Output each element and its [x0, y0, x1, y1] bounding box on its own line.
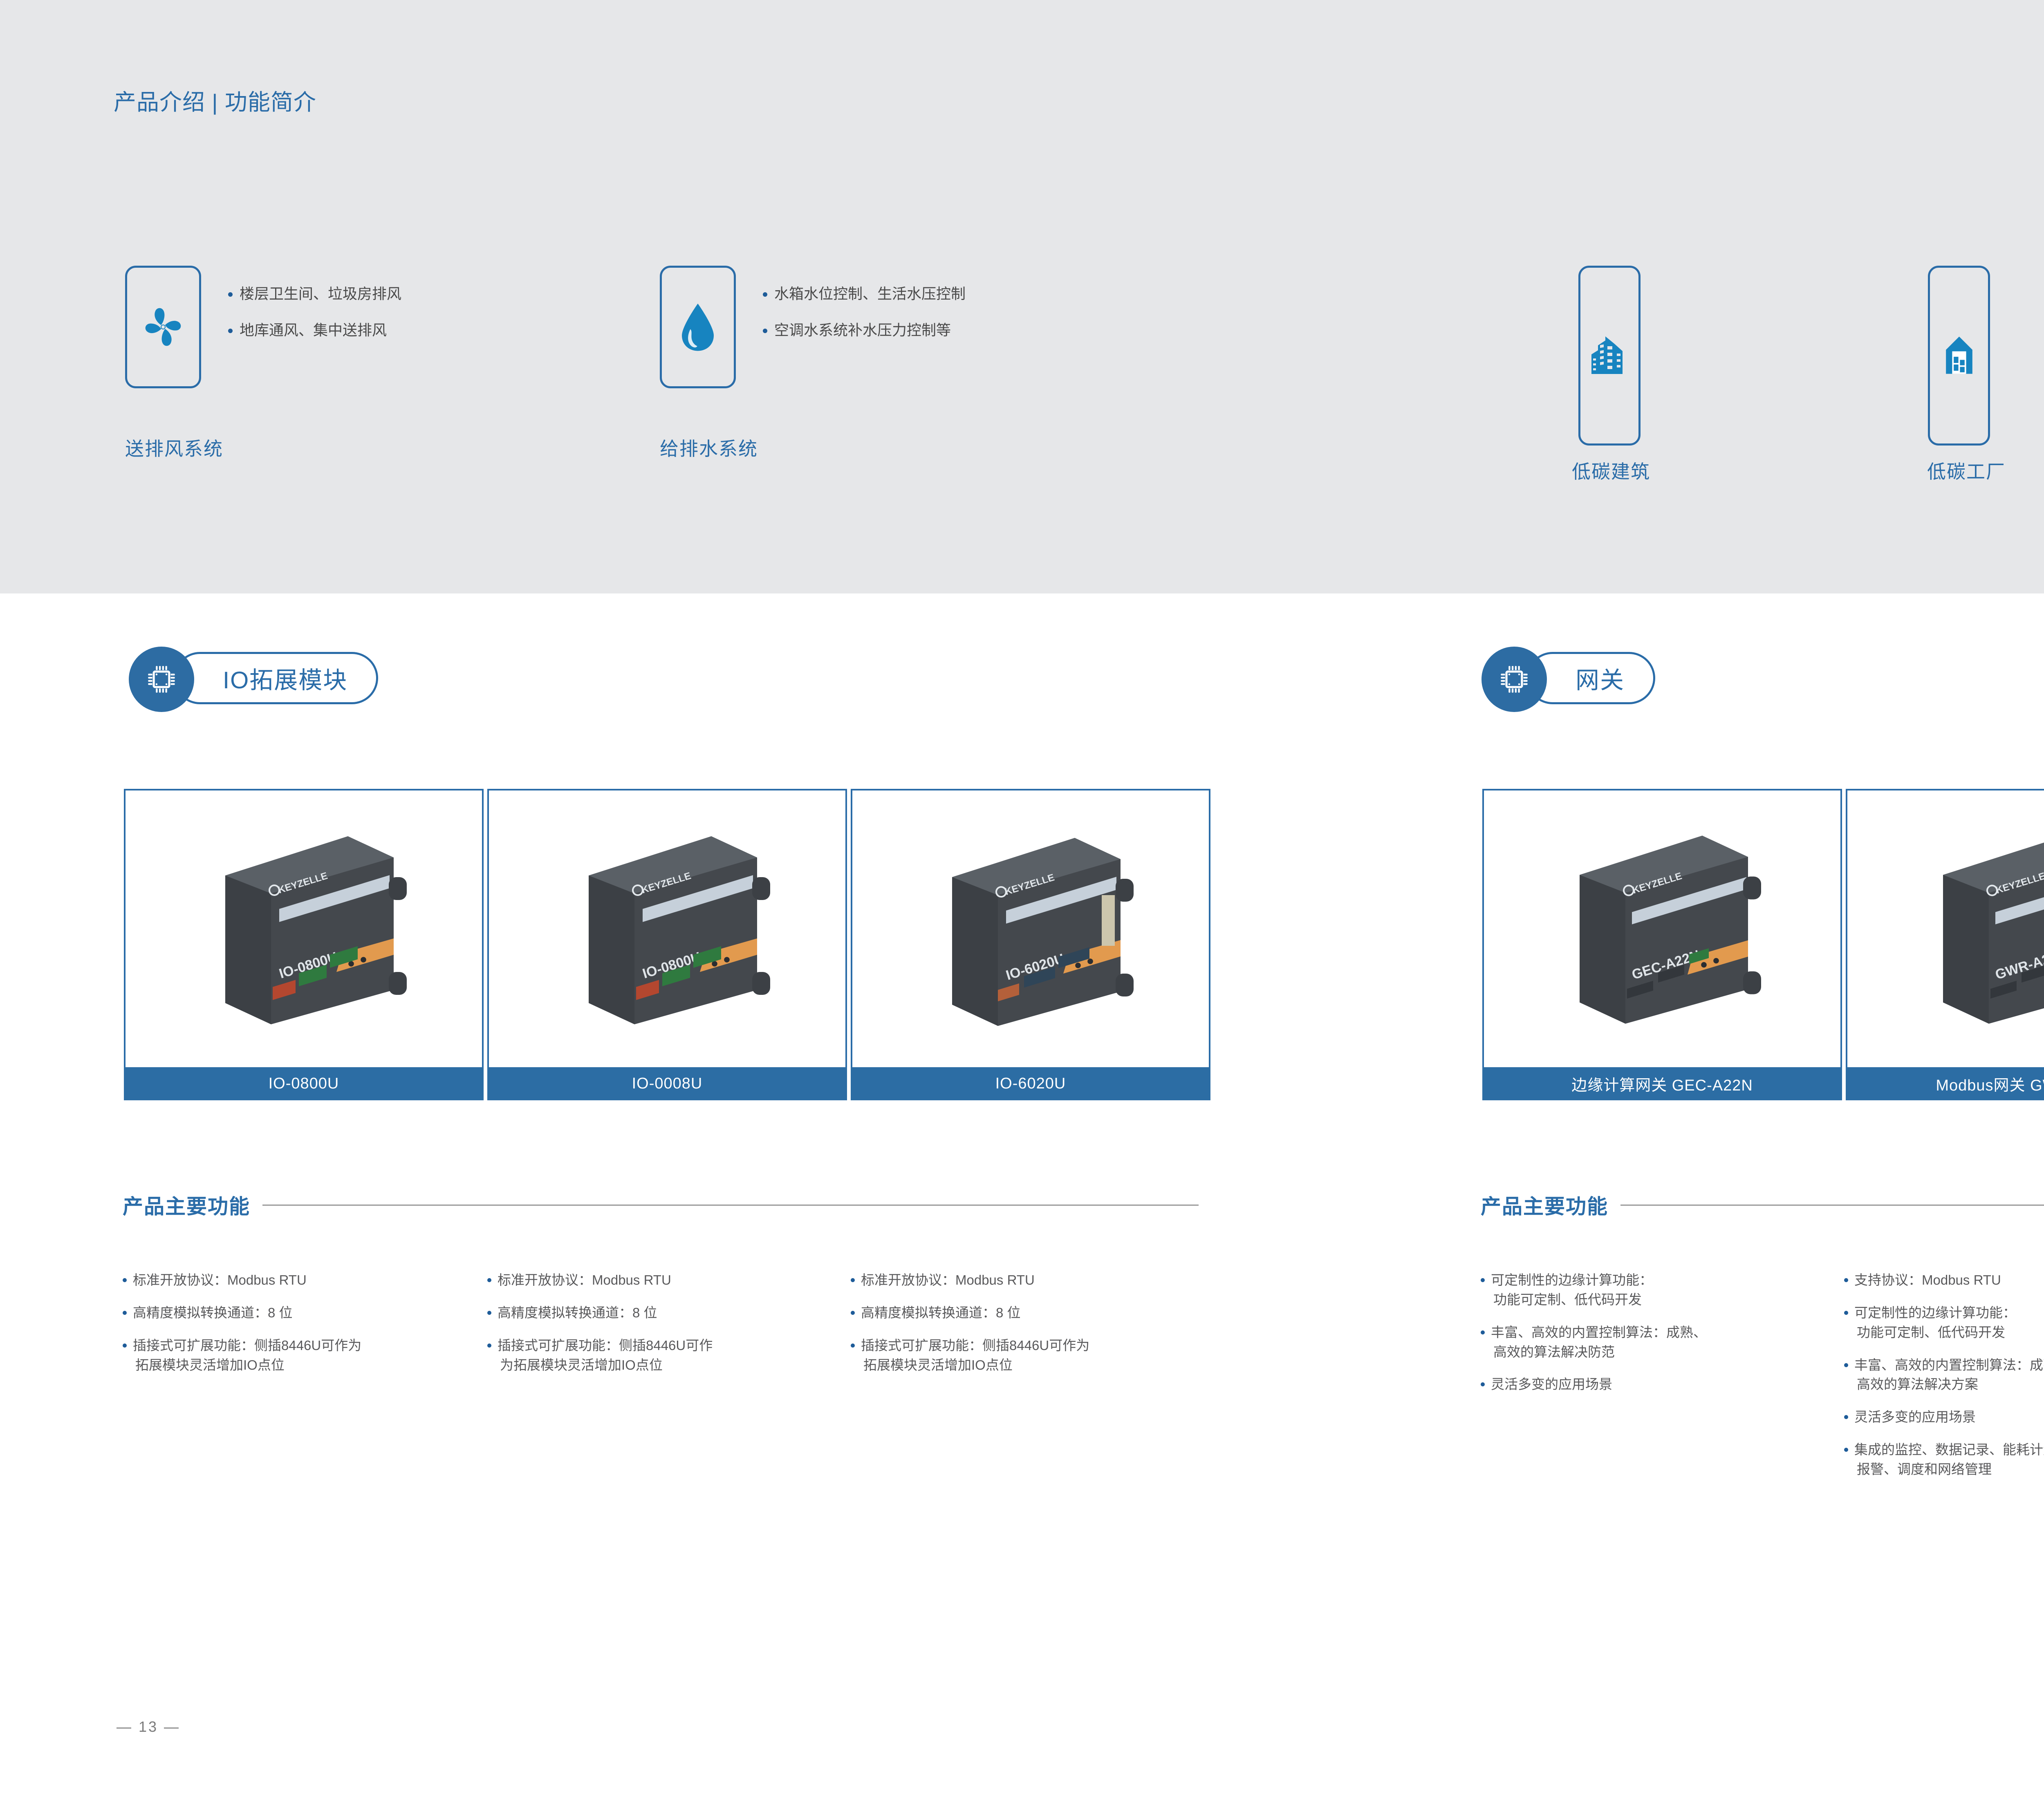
- feature-text: 插接式可扩展功能：侧插8446U可作为: [133, 1338, 361, 1353]
- bullet-dot: [123, 1278, 127, 1282]
- water-drop-icon-frame: [660, 266, 736, 388]
- list-item: 水箱水位控制、生活水压控制: [763, 284, 966, 304]
- factory-icon-frame: [1928, 266, 1990, 446]
- bullet-dot: [763, 292, 767, 297]
- bullet-text: 水箱水位控制、生活水压控制: [774, 284, 966, 304]
- product-image: IO-0800U KEYZELLE: [126, 790, 482, 1067]
- feature-text: 插接式可扩展功能：侧插8446U可作: [498, 1338, 713, 1353]
- heading-rule: [1620, 1205, 2044, 1206]
- feature-column: 可定制性的边缘计算功能： 功能可定制、低代码开发 丰富、高效的内置控制算法：成熟…: [1481, 1270, 1832, 1407]
- section-badge-gateway: 网关: [1481, 647, 1686, 712]
- feature-text-line2: 高效的算法解决方案: [1854, 1375, 2044, 1394]
- heading-rule: [262, 1205, 1199, 1206]
- section-badge-io-module: IO拓展模块: [129, 647, 423, 712]
- product-image: GEC-A22N KEYZELLE: [1484, 790, 1840, 1067]
- scenario-water-supply-bullets: 水箱水位控制、生活水压控制 空调水系统补水压力控制等: [763, 284, 966, 356]
- bullet-dot: [1844, 1415, 1848, 1419]
- product-image: IO-0800U KEYZELLE: [489, 790, 845, 1067]
- bullet-dot: [487, 1311, 491, 1315]
- feature-text: 高精度模拟转换通道：8 位: [133, 1305, 293, 1320]
- feature-column: 标准开放协议：Modbus RTU 高精度模拟转换通道：8 位 插接式可扩展功能…: [851, 1270, 1210, 1388]
- features-title: 产品主要功能: [1481, 1190, 1608, 1220]
- page-header-left: 产品介绍 | 功能简介: [114, 84, 316, 116]
- bullet-dot: [851, 1278, 855, 1282]
- bullet-dot: [851, 1311, 855, 1315]
- list-item: 插接式可扩展功能：侧插8446U可作为 拓展模块灵活增加IO点位: [851, 1336, 1210, 1375]
- feature-text-line2: 高效的算法解决防范: [1491, 1342, 1707, 1362]
- feature-column: 标准开放协议：Modbus RTU 高精度模拟转换通道：8 位 插接式可扩展功能…: [487, 1270, 847, 1388]
- bullet-dot: [1844, 1278, 1848, 1282]
- list-item: 丰富、高效的内置控制算法：成熟、 高效的算法解决方案: [1844, 1355, 2044, 1395]
- features-heading-gateway: 产品主要功能: [1481, 1190, 2044, 1220]
- feature-text-line2: 报警、调度和网络管理: [1854, 1460, 2044, 1479]
- feature-text: 丰富、高效的内置控制算法：成熟、: [1491, 1325, 1707, 1340]
- list-item: 空调水系统补水压力控制等: [763, 320, 966, 340]
- bullet-dot: [1481, 1330, 1485, 1335]
- list-item: 插接式可扩展功能：侧插8446U可作 为拓展模块灵活增加IO点位: [487, 1336, 847, 1375]
- factory-icon: [1930, 268, 1988, 443]
- bullet-dot: [487, 1278, 491, 1282]
- list-item: 可定制性的边缘计算功能： 功能可定制、低代码开发: [1481, 1270, 1832, 1310]
- badge-pill: IO拓展模块: [174, 652, 378, 704]
- feature-text: 标准开放协议：Modbus RTU: [861, 1272, 1035, 1287]
- list-item: 标准开放协议：Modbus RTU: [487, 1270, 847, 1290]
- fan-icon: [127, 268, 199, 386]
- feature-text: 可定制性的边缘计算功能：: [1491, 1272, 1653, 1287]
- list-item: 插接式可扩展功能：侧插8446U可作为 拓展模块灵活增加IO点位: [123, 1336, 482, 1375]
- features-title: 产品主要功能: [123, 1190, 250, 1220]
- water-drop-icon: [662, 268, 734, 386]
- page-number-left: — 13 —: [117, 1718, 180, 1735]
- scenario-send-exhaust-label: 送排风系统: [125, 434, 223, 461]
- feature-text-line2: 功能可定制、低代码开发: [1491, 1290, 1653, 1310]
- list-item: 丰富、高效的内置控制算法：成熟、 高效的算法解决防范: [1481, 1323, 1832, 1362]
- list-item: 灵活多变的应用场景: [1844, 1407, 2044, 1427]
- list-item: 楼层卫生间、垃圾房排风: [228, 284, 401, 304]
- bullet-text: 楼层卫生间、垃圾房排风: [240, 284, 401, 304]
- bullet-dot: [1844, 1448, 1848, 1452]
- list-item: 支持协议：Modbus RTU: [1844, 1270, 2044, 1290]
- feature-text-line2: 为拓展模块灵活增加IO点位: [498, 1355, 713, 1375]
- chip-icon: [129, 647, 194, 712]
- product-caption: Modbus网关 GWR-A25N: [1846, 1067, 2044, 1100]
- application-low-carbon-factory-label: 低碳工厂: [1927, 457, 2006, 484]
- product-card[interactable]: GEC-A22N KEYZELLE 边缘计算网关 GEC-A22N: [1482, 789, 1842, 1100]
- bullet-dot: [123, 1311, 127, 1315]
- feature-text: 标准开放协议：Modbus RTU: [498, 1272, 671, 1287]
- feature-column: 支持协议：Modbus RTU 可定制性的边缘计算功能： 功能可定制、低代码开发…: [1844, 1270, 2044, 1492]
- bullet-text: 地库通风、集中送排风: [240, 320, 387, 340]
- product-card[interactable]: IO-0800U KEYZELLE IO-0800U: [124, 789, 484, 1100]
- list-item: 标准开放协议：Modbus RTU: [851, 1270, 1210, 1290]
- office-buildings-icon: [1580, 268, 1638, 443]
- badge-label: IO拓展模块: [176, 661, 376, 695]
- bullet-dot: [228, 292, 233, 297]
- fan-icon-frame: [125, 266, 201, 388]
- list-item: 灵活多变的应用场景: [1481, 1375, 1832, 1394]
- list-item: 可定制性的边缘计算功能： 功能可定制、低代码开发: [1844, 1303, 2044, 1342]
- product-card[interactable]: IO-6020U KEYZELLE IO-6020U: [851, 789, 1210, 1100]
- bullet-dot: [1481, 1278, 1485, 1282]
- feature-text: 灵活多变的应用场景: [1854, 1409, 1976, 1424]
- application-low-carbon-building-label: 低碳建筑: [1572, 457, 1650, 484]
- feature-text-line2: 拓展模块灵活增加IO点位: [861, 1355, 1089, 1375]
- product-card[interactable]: GWR-A25N KEYZELLE Modbus网关 GWR-A25N: [1846, 789, 2044, 1100]
- product-image: IO-6020U KEYZELLE: [852, 790, 1209, 1067]
- bullet-text: 空调水系统补水压力控制等: [774, 320, 951, 340]
- scenario-send-exhaust-bullets: 楼层卫生间、垃圾房排风 地库通风、集中送排风: [228, 284, 401, 356]
- feature-text: 灵活多变的应用场景: [1491, 1377, 1612, 1392]
- feature-text: 插接式可扩展功能：侧插8446U可作为: [861, 1338, 1089, 1353]
- feature-text: 支持协议：Modbus RTU: [1854, 1272, 2001, 1287]
- feature-text-line2: 功能可定制、低代码开发: [1854, 1323, 2016, 1342]
- chip-icon: [1481, 647, 1547, 712]
- feature-text: 集成的监控、数据记录、能耗计量、: [1854, 1442, 2044, 1457]
- scenario-water-supply-label: 给排水系统: [660, 434, 758, 461]
- bullet-dot: [228, 329, 233, 333]
- product-image: GWR-A25N KEYZELLE: [1847, 790, 2044, 1067]
- brochure-page: 产品介绍 | 功能简介 产品介绍 | 功能简介: [0, 0, 2044, 1798]
- badge-label: 网关: [1529, 661, 1653, 695]
- bullet-dot: [1844, 1311, 1848, 1315]
- list-item: 集成的监控、数据记录、能耗计量、 报警、调度和网络管理: [1844, 1440, 2044, 1479]
- bullet-dot: [763, 329, 767, 333]
- feature-text: 高精度模拟转换通道：8 位: [861, 1305, 1021, 1320]
- bullet-dot: [1481, 1382, 1485, 1386]
- list-item: 高精度模拟转换通道：8 位: [851, 1303, 1210, 1323]
- bullet-dot: [851, 1343, 855, 1348]
- feature-text: 高精度模拟转换通道：8 位: [498, 1305, 657, 1320]
- list-item: 高精度模拟转换通道：8 位: [487, 1303, 847, 1323]
- features-heading-io: 产品主要功能: [123, 1190, 1210, 1220]
- list-item: 地库通风、集中送排风: [228, 320, 401, 340]
- list-item: 高精度模拟转换通道：8 位: [123, 1303, 482, 1323]
- feature-text-line2: 拓展模块灵活增加IO点位: [133, 1355, 361, 1375]
- office-buildings-icon-frame: [1578, 266, 1641, 446]
- product-caption: IO-0800U: [124, 1067, 484, 1100]
- feature-text: 标准开放协议：Modbus RTU: [133, 1272, 307, 1287]
- feature-column: 标准开放协议：Modbus RTU 高精度模拟转换通道：8 位 插接式可扩展功能…: [123, 1270, 482, 1388]
- bullet-dot: [1844, 1363, 1848, 1367]
- list-item: 标准开放协议：Modbus RTU: [123, 1270, 482, 1290]
- product-caption: 边缘计算网关 GEC-A22N: [1482, 1067, 1842, 1100]
- product-caption: IO-0008U: [487, 1067, 847, 1100]
- feature-text: 丰富、高效的内置控制算法：成熟、: [1854, 1357, 2044, 1373]
- bullet-dot: [123, 1343, 127, 1348]
- product-card[interactable]: IO-0800U KEYZELLE IO-0008U: [487, 789, 847, 1100]
- feature-text: 可定制性的边缘计算功能：: [1854, 1305, 2016, 1320]
- bullet-dot: [487, 1343, 491, 1348]
- product-caption: IO-6020U: [851, 1067, 1210, 1100]
